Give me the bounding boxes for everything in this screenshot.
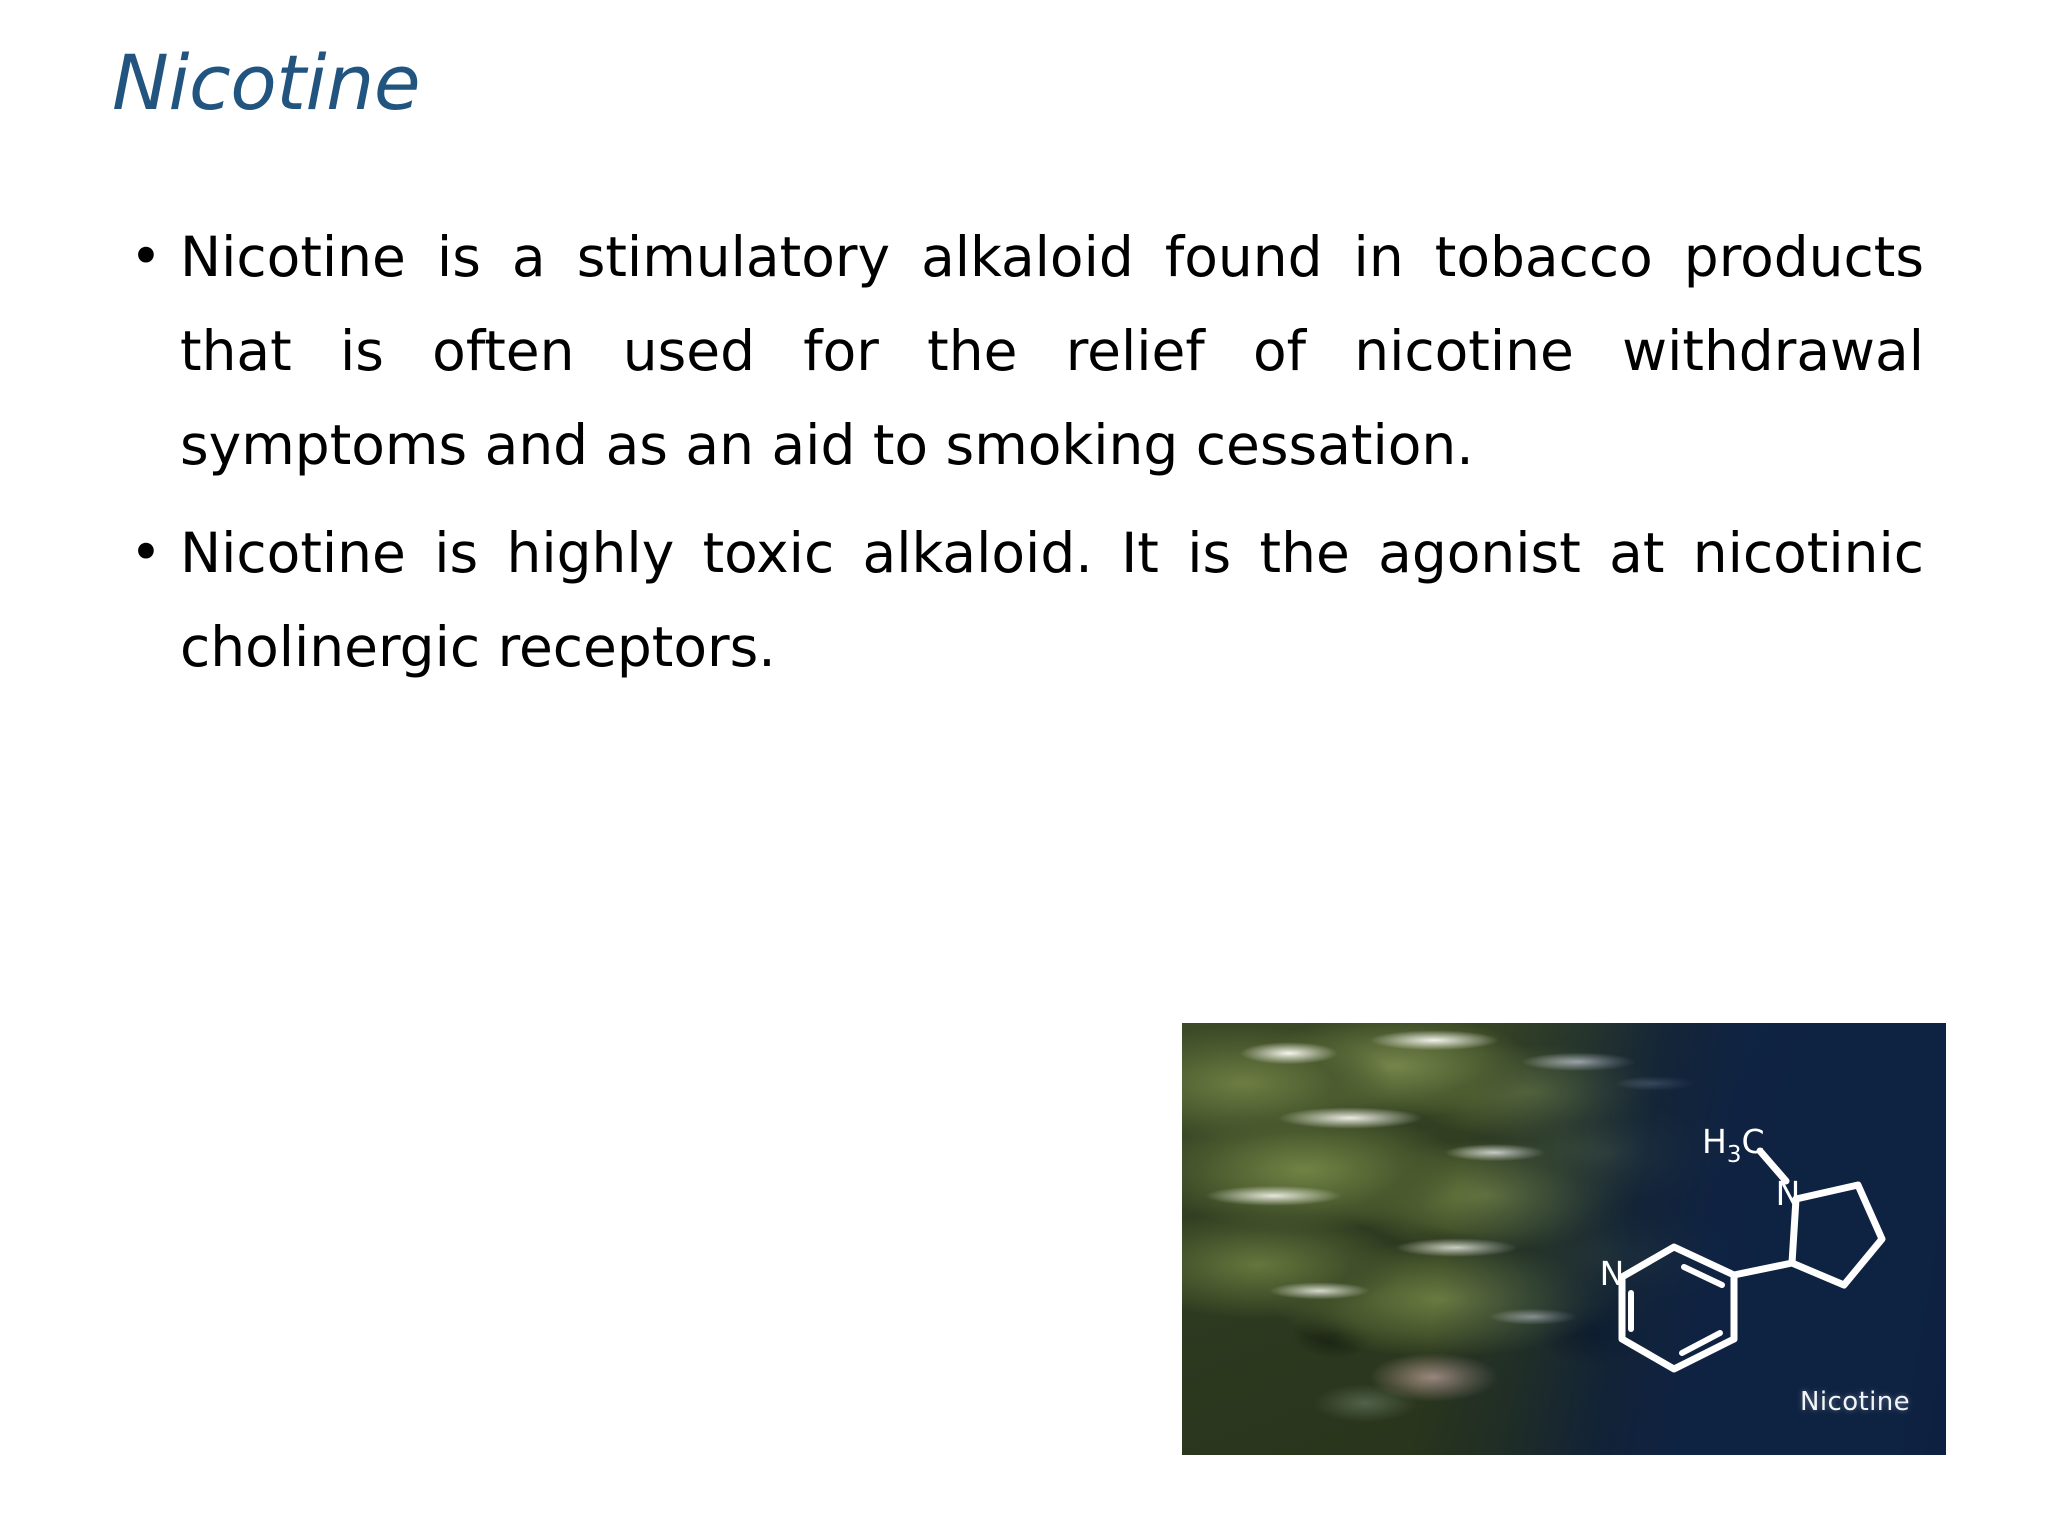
bullet-list: • Nicotine is a stimulatory alkaloid fou…: [112, 210, 1924, 708]
nicotine-plant-image: N N H3C Nicotine: [1182, 1023, 1946, 1455]
svg-text:N: N: [1776, 1174, 1801, 1213]
svg-text:N: N: [1600, 1254, 1625, 1293]
bullet-marker-icon: •: [130, 210, 160, 304]
page-title: Nicotine: [112, 42, 420, 124]
svg-text:H3C: H3C: [1702, 1122, 1765, 1168]
bullet-text: Nicotine is highly toxic alkaloid. It is…: [180, 506, 1924, 694]
bullet-text: Nicotine is a stimulatory alkaloid found…: [180, 210, 1924, 492]
list-item: • Nicotine is a stimulatory alkaloid fou…: [112, 210, 1924, 492]
slide: Nicotine • Nicotine is a stimulatory alk…: [0, 0, 2048, 1536]
list-item: • Nicotine is highly toxic alkaloid. It …: [112, 506, 1924, 694]
image-caption: Nicotine: [1800, 1387, 1910, 1417]
bullet-marker-icon: •: [130, 506, 160, 600]
